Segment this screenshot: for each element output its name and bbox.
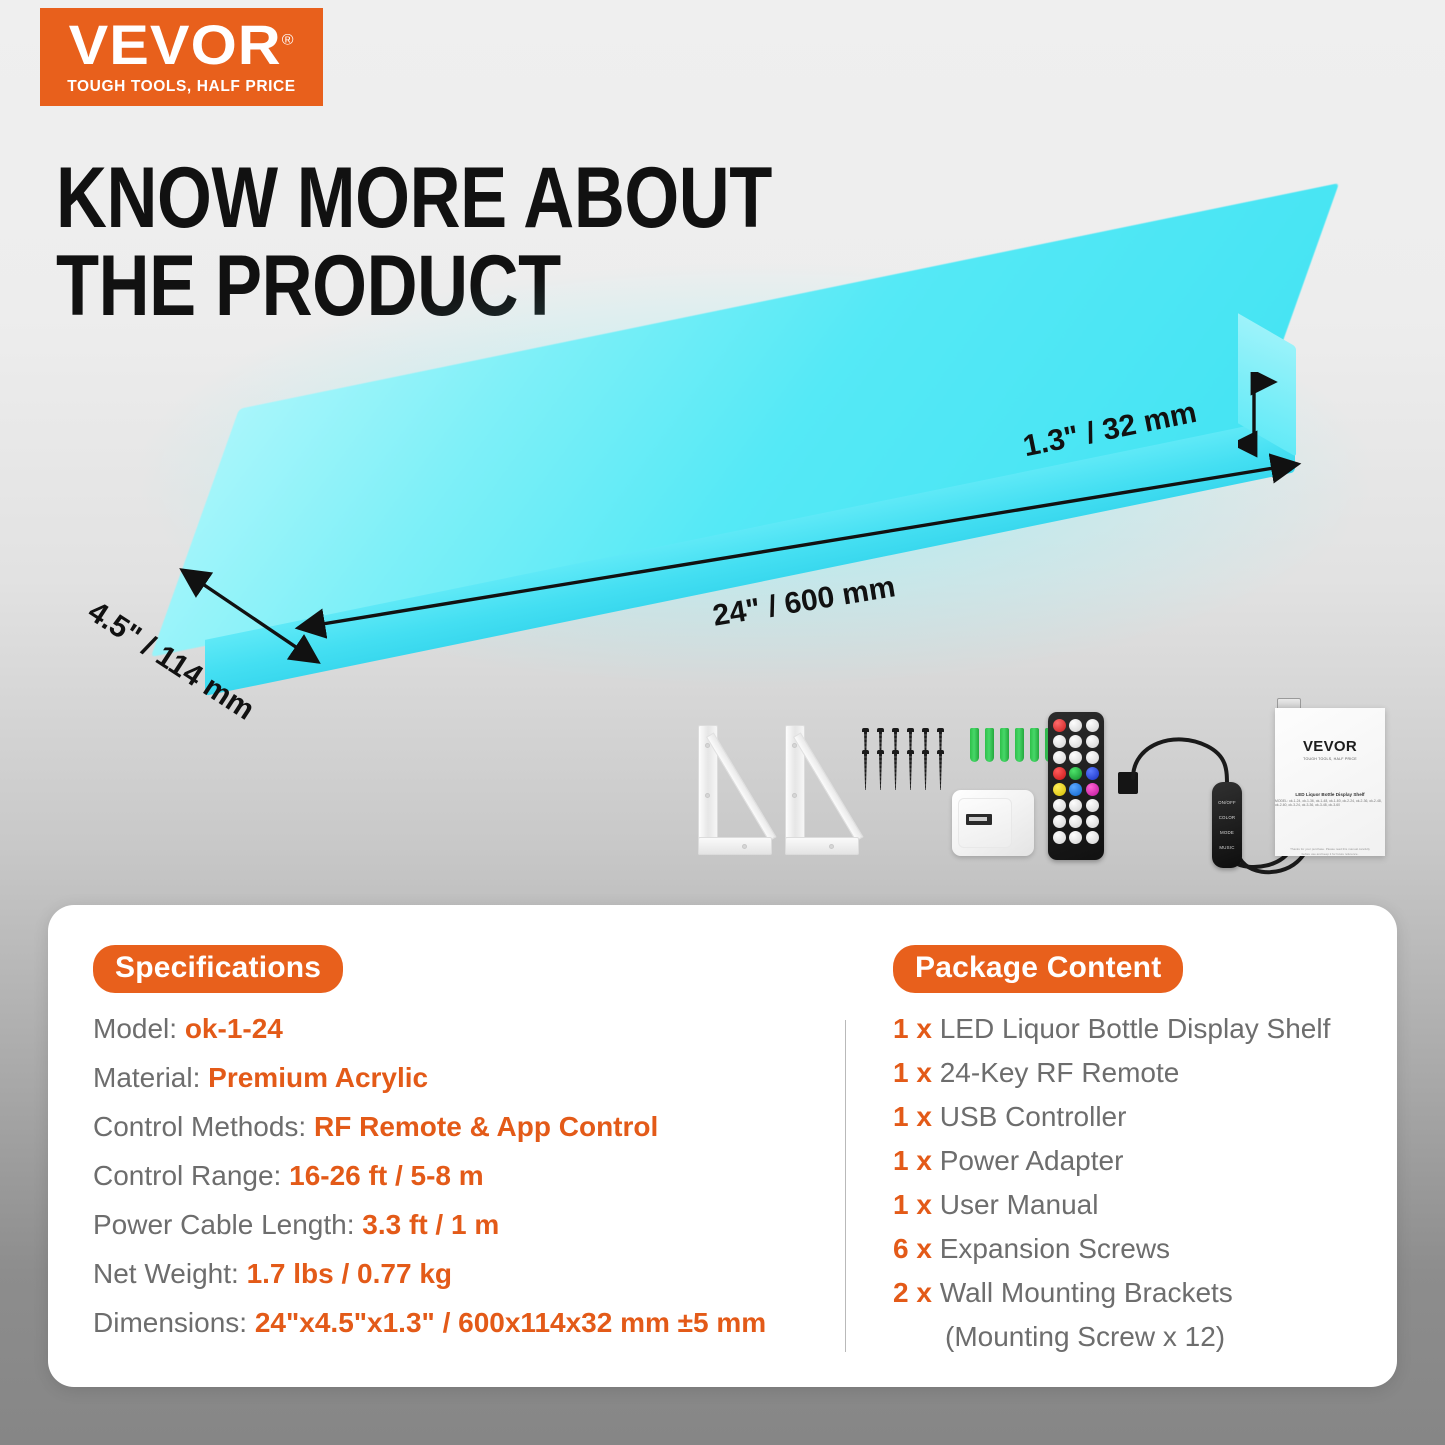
manual-models: MODEL: ok-1-24, ok-1-36, ok-1-48, ok-1-6… — [1275, 799, 1385, 807]
item-qty: 2 x — [893, 1277, 932, 1308]
power-adapter — [952, 790, 1034, 856]
package-item-adapter: 1 x Power Adapter — [893, 1145, 1373, 1177]
item-name: Expansion Screws — [940, 1233, 1170, 1264]
expansion-anchor — [1000, 728, 1009, 762]
remote-color-button-red — [1053, 767, 1066, 780]
package-content-title: Package Content — [893, 945, 1183, 993]
item-name: LED Liquor Bottle Display Shelf — [940, 1013, 1331, 1044]
remote-button — [1053, 831, 1066, 844]
spec-value: 1.7 lbs / 0.77 kg — [247, 1258, 452, 1289]
expansion-anchor — [1015, 728, 1024, 762]
remote-button — [1069, 815, 1082, 828]
registered-mark: ® — [282, 31, 295, 48]
spec-value: RF Remote & App Control — [314, 1111, 658, 1142]
spec-row-power-cable-length: Power Cable Length: 3.3 ft / 1 m — [93, 1209, 823, 1241]
expansion-anchor — [1030, 728, 1039, 762]
manual-tagline: TOUGH TOOLS, HALF PRICE — [1303, 757, 1357, 761]
spec-value: 24"x4.5"x1.3" / 600x114x32 mm ±5 mm — [255, 1307, 766, 1338]
spec-value: 16-26 ft / 5-8 m — [289, 1160, 484, 1191]
remote-color-button-cyan — [1069, 783, 1082, 796]
remote-button — [1086, 751, 1099, 764]
spec-row-control-methods: Control Methods: RF Remote & App Control — [93, 1111, 823, 1143]
controller-label-onoff: ON/OFF — [1218, 800, 1236, 805]
spec-row-net-weight: Net Weight: 1.7 lbs / 0.77 kg — [93, 1258, 823, 1290]
bracket-hole — [705, 793, 710, 798]
package-item-brackets: 2 x Wall Mounting Brackets — [893, 1277, 1373, 1309]
package-item-controller: 1 x USB Controller — [893, 1101, 1373, 1133]
usb-controller: ON/OFF COLOR MODE MUSIC — [1212, 782, 1242, 868]
package-item-remote: 1 x 24-Key RF Remote — [893, 1057, 1373, 1089]
remote-color-button-yellow — [1053, 783, 1066, 796]
mounting-screw — [922, 750, 929, 790]
headline-line-1: KNOW MORE ABOUT — [56, 155, 794, 243]
specifications-title: Specifications — [93, 945, 343, 993]
expansion-anchor — [970, 728, 979, 762]
spec-value: ok-1-24 — [185, 1013, 283, 1044]
controller-label-color: COLOR — [1219, 815, 1236, 820]
remote-color-button-magenta — [1086, 783, 1099, 796]
bracket-hole — [705, 743, 710, 748]
remote-button — [1069, 719, 1082, 732]
controller-label-mode: MODE — [1220, 830, 1234, 835]
bracket-hole — [742, 844, 747, 849]
bracket-hole — [792, 743, 797, 748]
item-name: Power Adapter — [940, 1145, 1124, 1176]
accessories-group: ON/OFF COLOR MODE MUSIC VEVOR TOUGH TOOL… — [690, 690, 1410, 880]
remote-button — [1069, 831, 1082, 844]
remote-button — [1086, 799, 1099, 812]
brand-name: VEVOR® — [69, 18, 295, 71]
remote-power-button — [1053, 719, 1066, 732]
mounting-screw — [937, 750, 944, 790]
item-name: USB Controller — [940, 1101, 1127, 1132]
item-qty: 1 x — [893, 1057, 932, 1088]
package-content-list: 1 x LED Liquor Bottle Display Shelf 1 x … — [893, 1013, 1373, 1353]
spec-label: Control Range: — [93, 1160, 281, 1191]
remote-button — [1053, 799, 1066, 812]
bracket-hole — [829, 844, 834, 849]
spec-label: Model: — [93, 1013, 177, 1044]
spec-row-material: Material: Premium Acrylic — [93, 1062, 823, 1094]
specifications-list: Model: ok-1-24 Material: Premium Acrylic… — [93, 1013, 823, 1356]
spec-label: Control Methods: — [93, 1111, 306, 1142]
spec-value: Premium Acrylic — [208, 1062, 428, 1093]
remote-button — [1069, 735, 1082, 748]
remote-button — [1086, 815, 1099, 828]
mounting-screw — [892, 750, 899, 790]
bracket-horizontal-arm — [785, 837, 859, 855]
expansion-anchor — [985, 728, 994, 762]
remote-color-button-blue — [1086, 767, 1099, 780]
rf-remote — [1048, 712, 1104, 860]
package-item-note: (Mounting Screw x 12) — [945, 1321, 1373, 1353]
vevor-logo: VEVOR® TOUGH TOOLS, HALF PRICE — [40, 8, 323, 106]
package-item-shelf: 1 x LED Liquor Bottle Display Shelf — [893, 1013, 1373, 1045]
item-name: 24-Key RF Remote — [940, 1057, 1180, 1088]
product-illustration: 1.3" / 32 mm 24" / 600 mm — [0, 250, 1445, 720]
controller-label-music: MUSIC — [1219, 845, 1234, 850]
info-card: Specifications Model: ok-1-24 Material: … — [48, 905, 1397, 1387]
item-qty: 1 x — [893, 1013, 932, 1044]
brand-tagline: TOUGH TOOLS, HALF PRICE — [67, 78, 296, 96]
mounting-screw — [907, 750, 914, 790]
mounting-screw — [862, 750, 869, 790]
remote-button — [1053, 751, 1066, 764]
spec-label: Net Weight: — [93, 1258, 239, 1289]
wall-mounting-bracket — [785, 725, 859, 855]
bracket-horizontal-arm — [698, 837, 772, 855]
remote-button — [1069, 751, 1082, 764]
item-qty: 1 x — [893, 1145, 932, 1176]
column-divider — [845, 1020, 846, 1352]
manual-title: LED Liquor Bottle Display Shelf — [1295, 792, 1364, 797]
item-qty: 1 x — [893, 1189, 932, 1220]
spec-label: Material: — [93, 1062, 200, 1093]
remote-button — [1069, 799, 1082, 812]
item-name: User Manual — [940, 1189, 1099, 1220]
spec-value: 3.3 ft / 1 m — [362, 1209, 499, 1240]
remote-button — [1053, 735, 1066, 748]
spec-row-dimensions: Dimensions: 24"x4.5"x1.3" / 600x114x32 m… — [93, 1307, 823, 1339]
wall-mounting-bracket — [698, 725, 772, 855]
remote-button — [1086, 735, 1099, 748]
item-qty: 1 x — [893, 1101, 932, 1132]
manual-brand: VEVOR — [1303, 738, 1357, 755]
manual-footer: Thanks for your purchase. Please read th… — [1288, 847, 1372, 856]
item-qty: 6 x — [893, 1233, 932, 1264]
item-name: Wall Mounting Brackets — [940, 1277, 1233, 1308]
spec-row-model: Model: ok-1-24 — [93, 1013, 823, 1045]
user-manual: VEVOR TOUGH TOOLS, HALF PRICE LED Liquor… — [1275, 708, 1385, 856]
package-item-screws: 6 x Expansion Screws — [893, 1233, 1373, 1265]
spec-label: Power Cable Length: — [93, 1209, 355, 1240]
remote-color-button-green — [1069, 767, 1082, 780]
package-item-manual: 1 x User Manual — [893, 1189, 1373, 1221]
spec-label: Dimensions: — [93, 1307, 247, 1338]
remote-button — [1053, 815, 1066, 828]
bracket-hole — [792, 793, 797, 798]
usb-port — [966, 814, 992, 825]
remote-button — [1086, 831, 1099, 844]
mounting-screw — [877, 750, 884, 790]
remote-button — [1086, 719, 1099, 732]
spec-row-control-range: Control Range: 16-26 ft / 5-8 m — [93, 1160, 823, 1192]
thickness-arrow — [1238, 372, 1278, 462]
